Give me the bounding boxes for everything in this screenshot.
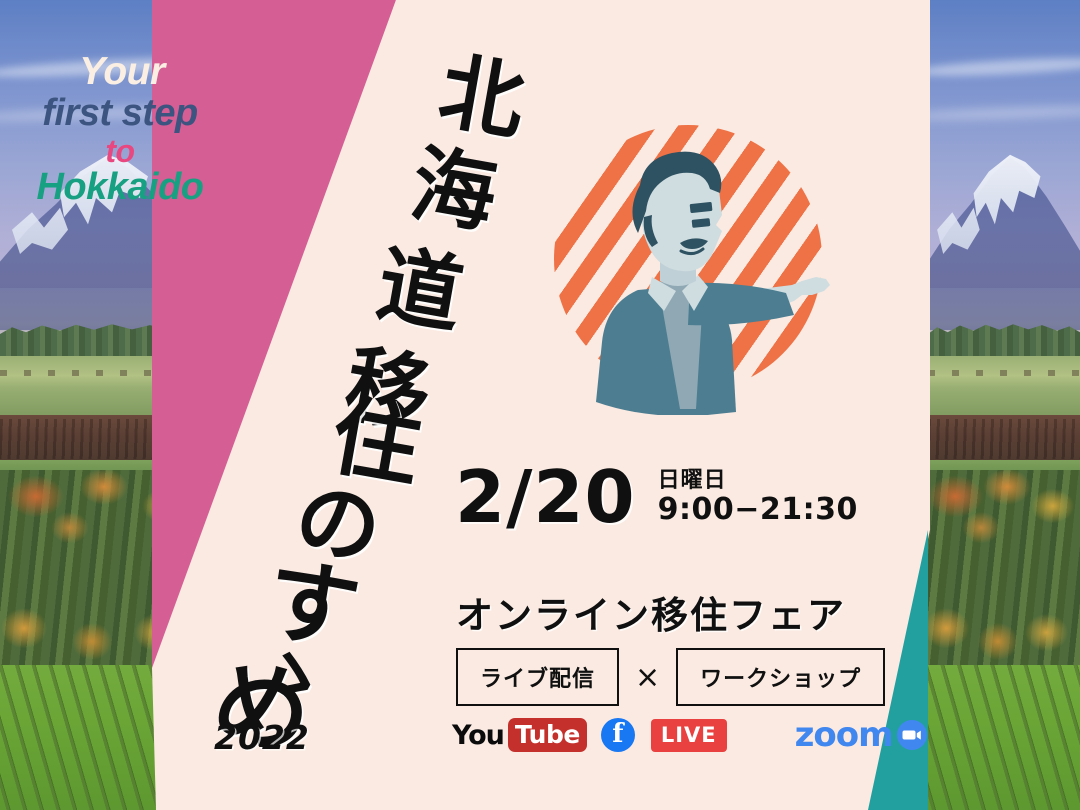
event-date: 2/20 <box>455 462 636 533</box>
video-camera-glyph <box>897 720 927 750</box>
platform-logo-row: You Tube f LIVE zoom <box>452 718 927 752</box>
youtube-tube-badge: Tube <box>508 718 587 752</box>
event-date-meta: 日曜日 9:00−21:30 <box>658 469 858 526</box>
poster-canvas: Your first step to Hokkaido 北 海 道 移 住 の … <box>0 0 1080 810</box>
format-separator-icon: × <box>635 660 660 695</box>
format-box-workshop: ワークショップ <box>676 648 885 706</box>
title-char-2: 海 <box>405 141 502 238</box>
facebook-f-glyph: f <box>601 718 635 752</box>
event-headline: オンライン移住フェア <box>456 585 846 639</box>
zoom-camera-icon <box>897 720 927 750</box>
title-char-1: 北 <box>433 48 530 145</box>
zoom-wordmark: zoom <box>795 718 893 752</box>
event-format-row: ライブ配信 × ワークショップ <box>456 648 885 706</box>
youtube-logo: You Tube <box>452 718 587 752</box>
facebook-live-badge: LIVE <box>651 719 727 752</box>
facebook-icon: f <box>601 718 635 752</box>
illustration-man-pointing <box>540 125 850 415</box>
title-year: 2022 <box>214 718 310 757</box>
event-time: 9:00−21:30 <box>658 493 858 526</box>
format-box-live-stream: ライブ配信 <box>456 648 619 706</box>
event-date-block: 2/20 日曜日 9:00−21:30 <box>455 462 885 542</box>
event-day-of-week: 日曜日 <box>658 469 858 492</box>
title-char-3: 道 <box>371 241 468 338</box>
zoom-logo: zoom <box>795 718 927 752</box>
man-figure-icon <box>540 125 850 415</box>
youtube-you-text: You <box>452 720 504 751</box>
